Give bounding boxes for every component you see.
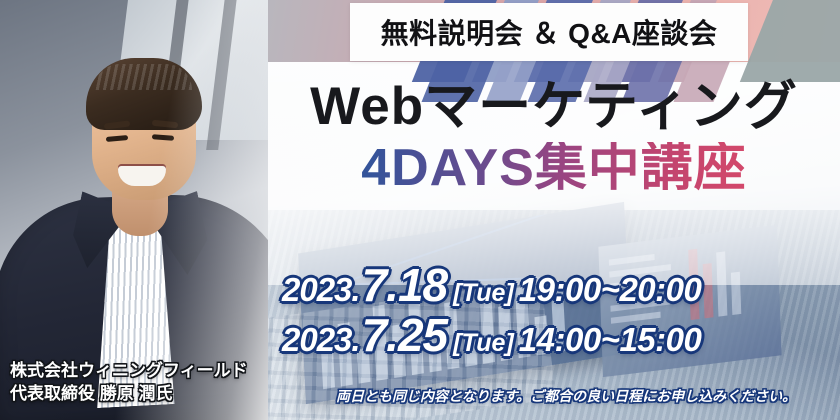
session-day-of-week: [Tue]	[453, 279, 514, 307]
speaker-credit: 株式会社ウィニングフィールド 代表取締役 勝原 潤氏	[10, 360, 248, 406]
headline-line-2: 4DAYS集中講座	[268, 142, 840, 194]
session-note: 両日とも同じ内容となります。ご都合の良い日程にお申し込みください。	[336, 386, 796, 406]
session-date-row: 2023.7.18[Tue]19:00~20:00	[282, 262, 840, 308]
session-year: 2023.	[282, 271, 360, 308]
free-seminar-label: 無料説明会 ＆ Q&A座談会	[381, 12, 718, 52]
session-date-list: 2023.7.18[Tue]19:00~20:00 2023.7.25[Tue]…	[282, 262, 840, 362]
session-month-day: 7.25	[362, 309, 448, 361]
session-time: 14:00~15:00	[519, 321, 702, 358]
speaker-company: 株式会社ウィニングフィールド	[10, 360, 248, 383]
session-time: 19:00~20:00	[519, 271, 702, 308]
session-date-row: 2023.7.25[Tue]14:00~15:00	[282, 312, 840, 358]
speaker-portrait-photo	[0, 0, 268, 420]
shard-7	[740, 0, 840, 82]
session-day-of-week: [Tue]	[453, 329, 514, 357]
free-seminar-strip: 無料説明会 ＆ Q&A座談会	[350, 3, 748, 61]
seminar-promo-banner: 無料説明会 ＆ Q&A座談会 Webマーケティング 4DAYS集中講座 2023…	[0, 0, 840, 420]
speaker-title-name: 代表取締役 勝原 潤氏	[10, 383, 248, 406]
photo-edge-fade	[0, 0, 268, 420]
session-month-day: 7.18	[362, 259, 448, 311]
session-year: 2023.	[282, 321, 360, 358]
headline-line-1: Webマーケティング	[268, 80, 840, 133]
headline-block: Webマーケティング 4DAYS集中講座	[268, 80, 840, 194]
